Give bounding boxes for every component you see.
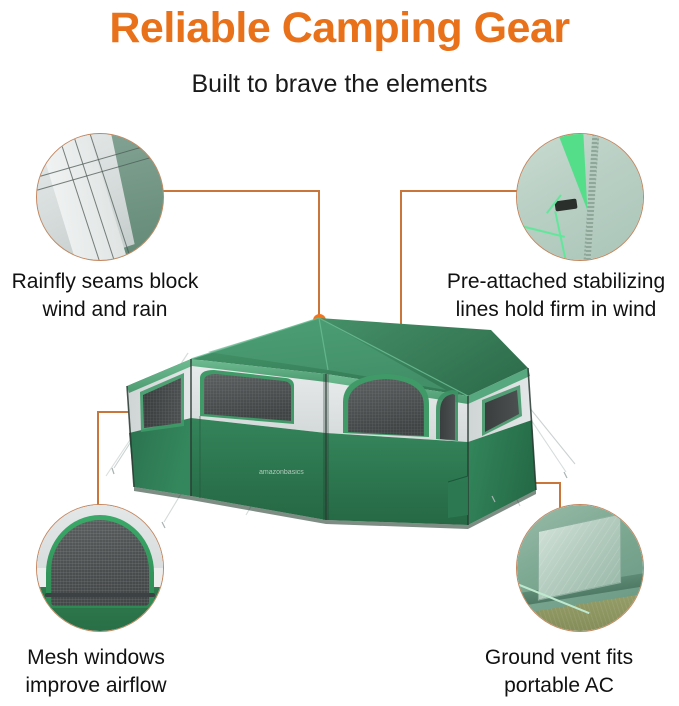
caption-mesh-line-1: Mesh windows [0,644,196,672]
tent-ground-vent [448,476,468,518]
caption-ground-vent: Ground vent fits portable AC [452,644,666,700]
caption-rainfly-line-1: Rainfly seams block [0,268,216,296]
caption-lines-line-1: Pre-attached stabilizing [428,268,679,296]
tent-graphic: amazonbasics [96,300,584,535]
tent-front-right-lower [326,433,468,525]
rainfly-seam-illustration [37,134,163,260]
caption-mesh-window: Mesh windows improve airflow [0,644,196,700]
page-title: Reliable Camping Gear [0,2,679,54]
caption-vent-line-1: Ground vent fits [452,644,666,672]
callout-image-rainfly [36,133,164,261]
callout-image-stabilizing-lines [516,133,644,261]
tent-door-arch-texture [348,379,424,436]
tent-window-frontleft-texture [204,374,291,421]
stabilizing-line-illustration [517,134,643,260]
product-image-tent: amazonbasics [96,300,584,535]
caption-vent-line-2: portable AC [452,672,666,700]
brand-label: amazonbasics [259,469,304,476]
connector-lines-horizontal [400,190,517,192]
connector-rainfly-horizontal [162,190,320,192]
caption-mesh-line-2: improve airflow [0,672,196,700]
mesh-window-sill [45,593,156,597]
page-subtitle: Built to brave the elements [0,68,679,100]
